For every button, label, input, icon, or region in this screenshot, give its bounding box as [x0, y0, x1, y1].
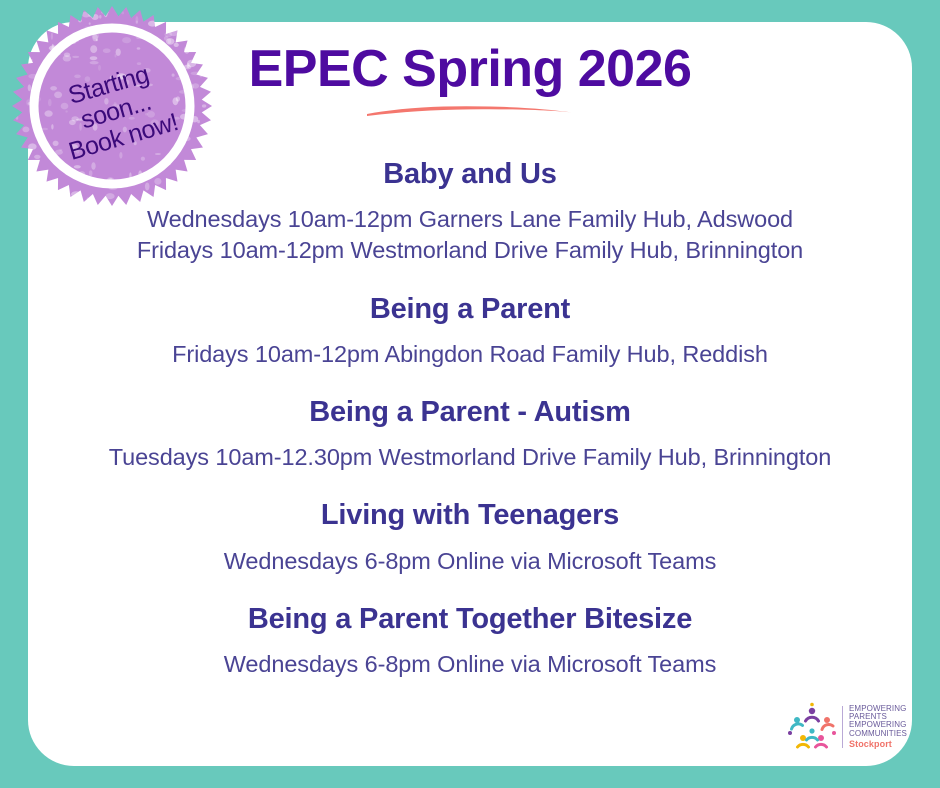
program-session: Tuesdays 10am-12.30pm Westmorland Drive … [40, 442, 900, 473]
starting-soon-badge: Starting soon... Book now! [8, 6, 216, 210]
program-session: Wednesdays 6-8pm Online via Microsoft Te… [40, 546, 900, 577]
program-name: Living with Teenagers [40, 499, 900, 531]
title-underline-swoosh [365, 103, 575, 119]
program-item: Living with Teenagers Wednesdays 6-8pm O… [40, 499, 900, 576]
logo-stockport: Stockport [849, 740, 907, 749]
program-name: Being a Parent Together Bitesize [40, 603, 900, 635]
program-item: Being a Parent Fridays 10am-12pm Abingdo… [40, 293, 900, 370]
program-item: Being a Parent Together Bitesize Wednesd… [40, 603, 900, 680]
program-name: Being a Parent [40, 293, 900, 325]
poster-canvas: EPEC Spring 2026 Baby and Us Wednesdays … [0, 0, 940, 788]
program-session: Fridays 10am-12pm Westmorland Drive Fami… [40, 235, 900, 266]
people-circle-icon [786, 702, 838, 752]
program-session: Fridays 10am-12pm Abingdon Road Family H… [40, 339, 900, 370]
logo-divider [842, 706, 843, 748]
program-name: Being a Parent - Autism [40, 396, 900, 428]
program-session: Wednesdays 6-8pm Online via Microsoft Te… [40, 649, 900, 680]
epec-stockport-logo: EMPOWERING PARENTS EMPOWERING COMMUNITIE… [786, 698, 910, 756]
program-list: Baby and Us Wednesdays 10am-12pm Garners… [40, 158, 900, 682]
program-item: Being a Parent - Autism Tuesdays 10am-12… [40, 396, 900, 473]
logo-line-4: COMMUNITIES [849, 730, 907, 738]
logo-wordmark: EMPOWERING PARENTS EMPOWERING COMMUNITIE… [849, 705, 907, 749]
